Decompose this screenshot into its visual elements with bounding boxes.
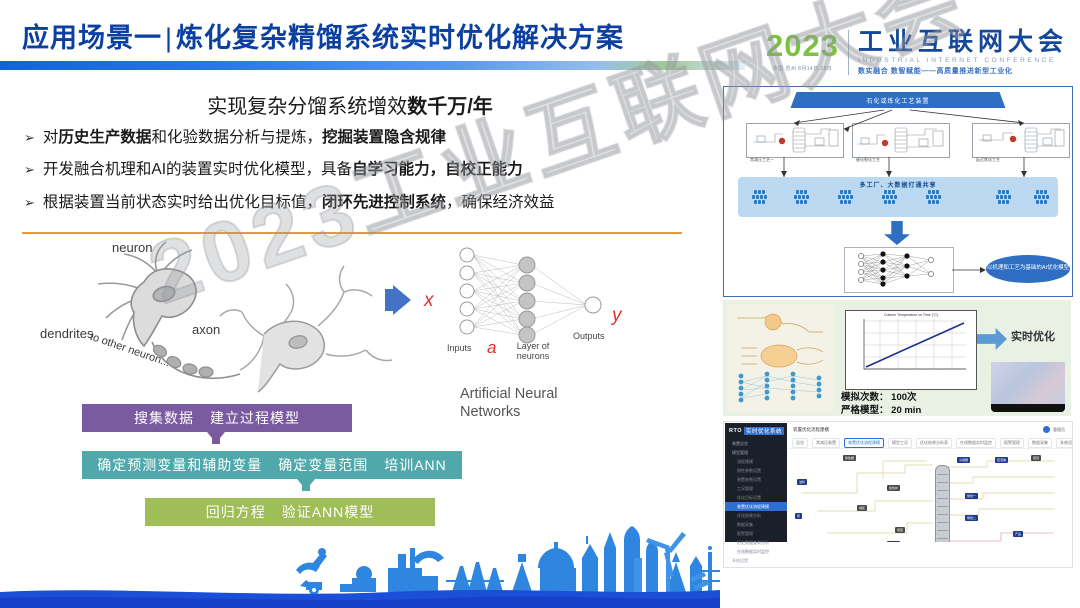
bullet-item-1: ➢开发融合机理和AI的装置实时优化模型，具备自学习能力，自校正能力 bbox=[24, 160, 694, 179]
page-title: 应用场景一|炼化复杂精馏系统实时优化解决方案 bbox=[22, 16, 624, 55]
bullet-item-2: ➢根据装置当前状态实时给出优化目标值，闭环先进控制系统，确保经济效益 bbox=[24, 193, 694, 212]
bullet-text: 对历史生产数据和化验数据分析与提炼，挖掘装置隐含规律 bbox=[43, 128, 446, 147]
logo-subtitle: 数实融合 数智赋能——高质量推进新型工业化 bbox=[858, 68, 1068, 75]
process-flow-svg bbox=[787, 449, 1071, 542]
flow-node[interactable]: 塔底 bbox=[895, 527, 905, 533]
flow-step-2-item-1: 确定变量范围 bbox=[278, 455, 368, 475]
software-logo: RTO 实时优化系统 bbox=[729, 427, 784, 435]
db-group-1 bbox=[752, 190, 767, 204]
logo-year: 2023 bbox=[766, 30, 839, 61]
flow-step-1-item-1: 建立过程模型 bbox=[210, 408, 300, 428]
sidebar-item-4[interactable]: 装置参数设置 bbox=[725, 475, 787, 484]
bullet-item-0: ➢对历史生产数据和化验数据分析与提炼，挖掘装置隐含规律 bbox=[24, 128, 694, 147]
avatar bbox=[1043, 426, 1050, 433]
speed-stat-1: 严格模型： 20 min bbox=[841, 405, 921, 416]
flow-step-3-item-0: 回归方程 bbox=[206, 502, 266, 522]
bullet-marker-icon: ➢ bbox=[24, 162, 35, 178]
bullet-marker-icon: ➢ bbox=[24, 130, 35, 146]
slide-root: 应用场景一|炼化复杂精馏系统实时优化解决方案 2023 中国·苏州 8月14日-… bbox=[0, 0, 1080, 608]
logo-date: 中国·苏州 8月14日-18日 bbox=[766, 65, 839, 72]
flow-step-2-item-2: 培训ANN bbox=[384, 455, 447, 475]
conference-logo: 2023 中国·苏州 8月14日-18日 工业互联网大会 INDUSTRIAL … bbox=[766, 30, 1068, 75]
sidebar-item-3[interactable]: 物性参数设置 bbox=[725, 466, 787, 475]
db-group-7 bbox=[1034, 190, 1049, 204]
software-logo-mark: RTO bbox=[729, 428, 742, 434]
flow-step-1-item-0: 搜集数据 bbox=[134, 408, 194, 428]
flow-step-2: 确定预测变量和辅助变量确定变量范围培训ANN bbox=[82, 451, 462, 479]
header-gradient-accent bbox=[596, 61, 746, 70]
city-skyline-decoration bbox=[0, 522, 720, 608]
panel-rto-software-screenshot: RTO 实时优化系统 装置总览模型管理流程建模物性参数设置装置参数设置工况管理优… bbox=[723, 421, 1073, 568]
software-topbar: 装置优化流程建模 管理员 bbox=[787, 423, 1071, 438]
speed-stat-0: 模拟次数： 100次 bbox=[841, 392, 921, 405]
headline-emphasis: 数千万/年 bbox=[407, 96, 493, 118]
distillation-column[interactable] bbox=[935, 465, 950, 542]
logo-year-block: 2023 中国·苏州 8月14日-18日 bbox=[766, 30, 848, 72]
label-axon: axon bbox=[192, 322, 220, 337]
sidebar-item-1[interactable]: 模型管理 bbox=[725, 448, 787, 457]
bullet-text: 开发融合机理和AI的装置实时优化模型，具备自学习能力，自校正能力 bbox=[43, 160, 523, 179]
flow-node[interactable]: 再沸器 bbox=[887, 541, 900, 542]
panel-top-connectors bbox=[724, 107, 1072, 182]
db-group-3 bbox=[838, 190, 853, 204]
sidebar-item-10[interactable]: 报警管理 bbox=[725, 529, 787, 538]
panel-speed-comparison: Column Temperature vs Time (°C) 模拟次数： 10… bbox=[723, 300, 1071, 416]
flow-node[interactable]: 冷凝器 bbox=[957, 457, 970, 463]
pfd-label-2: 延迟焦化工艺 bbox=[976, 157, 1000, 163]
tab-0[interactable]: 总览 bbox=[792, 438, 808, 448]
page-title-rest: 炼化复杂精馏系统实时优化解决方案 bbox=[176, 23, 624, 53]
optimization-model-ellipse: 以机理和工艺为基础的AI优化模型 bbox=[986, 255, 1070, 283]
sidebar-item-7[interactable]: 装置优化流程建模 bbox=[725, 502, 787, 511]
flow-node[interactable]: 换热器 bbox=[843, 455, 856, 461]
down-arrow-icon bbox=[884, 221, 910, 245]
pfd-label-1: 催化裂化工艺 bbox=[856, 157, 880, 163]
tab-1[interactable]: 常减压装置 bbox=[812, 438, 840, 448]
chart-svg bbox=[846, 311, 974, 381]
tab-2[interactable]: 装置优化流程建模 bbox=[844, 438, 884, 448]
flow-node[interactable]: 回流罐 bbox=[995, 457, 1008, 463]
biological-neuron-illustration: neuron dendrites axon to other neuron... bbox=[40, 238, 400, 418]
label-layer-of-neurons: Layer of neurons bbox=[503, 341, 563, 362]
db-group-4 bbox=[882, 190, 897, 204]
tab-3[interactable]: 模型工况 bbox=[888, 438, 912, 448]
nn-to-ellipse-connector bbox=[952, 265, 988, 275]
sidebar-item-9[interactable]: 数据采集 bbox=[725, 520, 787, 529]
data-lake-title: 多工厂、大数据打通共享 bbox=[738, 180, 1058, 189]
software-sidebar-menu: 装置总览模型管理流程建模物性参数设置装置参数设置工况管理优化目标设置装置优化流程… bbox=[725, 439, 787, 568]
speed-stat-label: 模拟次数： bbox=[841, 392, 889, 403]
headline-prefix: 实现复杂分馏系统增效 bbox=[207, 96, 407, 118]
ann-title-line2: Networks bbox=[460, 403, 558, 421]
bullet-marker-icon: ➢ bbox=[24, 195, 35, 211]
sidebar-item-0[interactable]: 装置总览 bbox=[725, 439, 787, 448]
variable-x-label: x bbox=[424, 290, 434, 312]
flow-node[interactable]: 加热炉 bbox=[887, 485, 900, 491]
realtime-arrow-icon bbox=[977, 328, 1007, 350]
tab-5[interactable]: 在线数据实时监控 bbox=[956, 438, 996, 448]
simulation-line-chart: Column Temperature vs Time (°C) bbox=[845, 310, 977, 390]
sidebar-item-11[interactable]: 历史数据查询分析 bbox=[725, 538, 787, 547]
realtime-optimization-label: 实时优化 bbox=[1011, 328, 1055, 344]
process-flow-canvas[interactable]: 进料 换热器 加热炉 泵 罐区 塔底 冷凝器 回流罐 塔顶 侧线一 侧线二 产品… bbox=[787, 449, 1071, 542]
logo-chinese-name: 工业互联网大会 bbox=[858, 30, 1068, 55]
chart-title: Column Temperature vs Time (°C) bbox=[846, 313, 976, 317]
sidebar-item-12[interactable]: 在线数据实时监控 bbox=[725, 547, 787, 556]
sidebar-item-2[interactable]: 流程建模 bbox=[725, 457, 787, 466]
db-group-5 bbox=[926, 190, 941, 204]
tab-8[interactable]: 系统设置 bbox=[1056, 438, 1073, 448]
tab-7[interactable]: 数据采集 bbox=[1028, 438, 1052, 448]
neuron-to-network-thumbnail bbox=[727, 304, 833, 412]
flow-node[interactable]: 侧线二 bbox=[965, 515, 978, 521]
ann-title-line1: Artificial Neural bbox=[460, 385, 558, 403]
label-dendrites: dendrites bbox=[40, 326, 93, 341]
logo-english-name: INDUSTRIAL INTERNET CONFERENCE bbox=[858, 58, 1068, 65]
bullet-list: ➢对历史生产数据和化验数据分析与提炼，挖掘装置隐含规律➢开发融合机理和AI的装置… bbox=[24, 128, 694, 225]
flow-node[interactable]: 进料 bbox=[797, 479, 807, 485]
flow-node[interactable]: 罐区 bbox=[857, 505, 867, 511]
flow-step-2-item-0: 确定预测变量和辅助变量 bbox=[97, 455, 262, 475]
sidebar-item-13[interactable]: 系统设置 bbox=[725, 556, 787, 565]
logo-divider bbox=[848, 30, 849, 75]
headline: 实现复杂分馏系统增效数千万/年 bbox=[0, 90, 700, 119]
flow-step-1: 搜集数据建立过程模型 bbox=[82, 404, 352, 432]
speed-stat-value: 20 min bbox=[889, 405, 922, 416]
flow-node[interactable]: 泵 bbox=[795, 513, 802, 519]
flow-step-3-item-1: 验证ANN模型 bbox=[282, 502, 375, 522]
ann-title: Artificial Neural Networks bbox=[460, 385, 558, 421]
flow-arrow-1-head bbox=[207, 432, 225, 443]
label-outputs: Outputs bbox=[573, 331, 605, 341]
software-logo-name: 实时优化系统 bbox=[744, 427, 784, 435]
flow-node[interactable]: 塔顶 bbox=[1031, 455, 1041, 461]
speed-stat-value: 100次 bbox=[889, 392, 917, 403]
flow-node[interactable]: 侧线一 bbox=[965, 493, 978, 499]
panel-top-banner: 石化或炼化工艺装置 bbox=[791, 92, 1006, 108]
sidebar-item-14[interactable]: 用户管理 bbox=[725, 565, 787, 568]
sidebar-item-5[interactable]: 工况管理 bbox=[725, 484, 787, 493]
pfd-label-0: 常减压工艺一 bbox=[750, 157, 774, 163]
sidebar-item-8[interactable]: 优化结果分析 bbox=[725, 511, 787, 520]
transform-arrow-icon bbox=[385, 285, 419, 320]
db-group-2 bbox=[794, 190, 809, 204]
orange-divider bbox=[22, 232, 682, 234]
deep-network-thumbnail bbox=[844, 247, 954, 293]
tab-4[interactable]: 优化结果分析表 bbox=[916, 438, 952, 448]
artificial-neural-network-diagram: Inputs Layer of neurons Outputs bbox=[445, 243, 660, 363]
label-neuron: neuron bbox=[112, 240, 152, 255]
software-sidebar: RTO 实时优化系统 装置总览模型管理流程建模物性参数设置装置参数设置工况管理优… bbox=[725, 423, 787, 542]
page-title-separator: | bbox=[162, 23, 176, 53]
speed-stats-list: 模拟次数： 100次严格模型： 20 minANN模型： 0.3 s bbox=[841, 392, 921, 416]
tab-6[interactable]: 报警管理 bbox=[1000, 438, 1024, 448]
plant-3d-thumbnail bbox=[991, 362, 1065, 410]
bullet-text: 根据装置当前状态实时给出优化目标值，闭环先进控制系统，确保经济效益 bbox=[43, 193, 555, 212]
label-inputs: Inputs bbox=[447, 343, 472, 353]
data-lake-band: 多工厂、大数据打通共享 bbox=[738, 177, 1058, 217]
user-area[interactable]: 管理员 bbox=[1043, 426, 1065, 433]
page-title-main: 应用场景一 bbox=[22, 23, 162, 53]
plant-3d-thumbnail-base bbox=[991, 404, 1065, 412]
flow-arrow-2-head bbox=[297, 479, 315, 490]
user-name: 管理员 bbox=[1053, 427, 1065, 433]
flow-node[interactable]: 产品 bbox=[1013, 531, 1023, 537]
panel-architecture-diagram: 石化或炼化工艺装置 bbox=[723, 86, 1073, 297]
db-group-6 bbox=[996, 190, 1011, 204]
software-tabbar: 总览常减压装置装置优化流程建模模型工况优化结果分析表在线数据实时监控报警管理数据… bbox=[787, 437, 1071, 449]
speed-stat-label: 严格模型： bbox=[841, 405, 889, 416]
sidebar-item-6[interactable]: 优化目标设置 bbox=[725, 493, 787, 502]
breadcrumb: 装置优化流程建模 bbox=[793, 427, 829, 433]
logo-name-block: 工业互联网大会 INDUSTRIAL INTERNET CONFERENCE 数… bbox=[858, 30, 1068, 75]
